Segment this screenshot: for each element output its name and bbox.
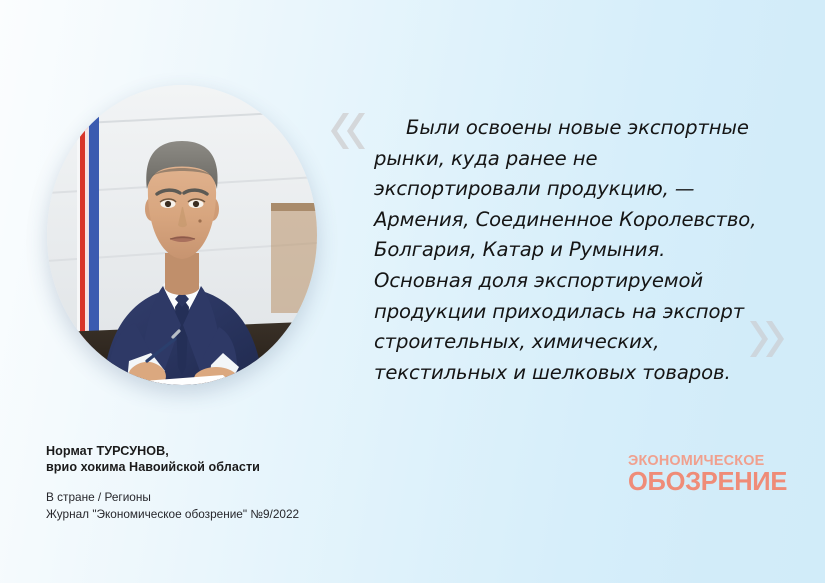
quote-card: Были освоены новые экспортные рынки, куд… <box>0 0 825 583</box>
portrait-container <box>47 85 317 385</box>
logo-line-review: ОБОЗРЕНИЕ <box>628 470 780 495</box>
attribution-name: Нормат ТУРСУНОВ, врио хокима Навоийской … <box>46 443 376 476</box>
avatar <box>47 85 317 385</box>
logo-line-economic: ЭКОНОМИЧЕСКОЕ <box>628 454 780 469</box>
quote-text: Были освоены новые экспортные рынки, куд… <box>374 113 766 388</box>
attribution-block: Нормат ТУРСУНОВ, врио хокима Навоийской … <box>46 443 376 523</box>
attribution-source: В стране / Регионы Журнал "Экономическое… <box>46 489 376 523</box>
quote-open-icon <box>327 110 367 152</box>
publication-logo[interactable]: ЭКОНОМИЧЕСКОЕ ОБОЗРЕНИЕ <box>628 454 780 495</box>
